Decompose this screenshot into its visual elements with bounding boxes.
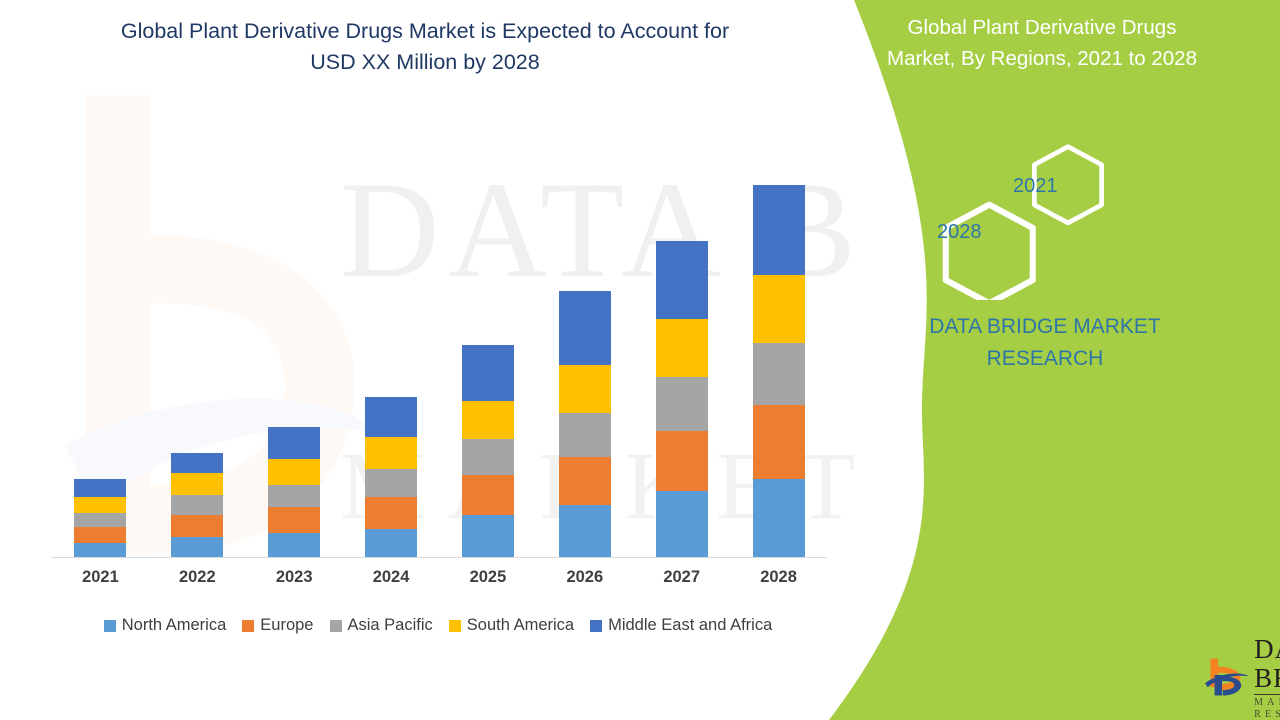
x-axis-tick-label: 2027 xyxy=(642,568,722,587)
legend-swatch-icon xyxy=(104,620,116,632)
brand-panel: Global Plant Derivative Drugs Market, By… xyxy=(800,0,1280,720)
legend-label: South America xyxy=(467,616,574,635)
chart-panel: DATA BRIDGE MARKET RESEARCH Global Plant… xyxy=(0,0,860,720)
bar-segment[interactable] xyxy=(365,437,417,469)
bar-segment[interactable] xyxy=(559,413,611,457)
brand-title-line2: Market, By Regions, 2021 to 2028 xyxy=(822,43,1262,74)
bar-segment[interactable] xyxy=(171,495,223,515)
bar-segment[interactable] xyxy=(74,479,126,497)
bar-segment[interactable] xyxy=(462,439,514,475)
legend-swatch-icon xyxy=(449,620,461,632)
bar-segment[interactable] xyxy=(656,241,708,319)
brand-name-line1: DATA BRIDGE MARKET xyxy=(830,311,1260,343)
logo-wordmark: DATA BRIDGE MARKET RESEARCH xyxy=(1254,633,1280,720)
bar-segment[interactable] xyxy=(365,397,417,437)
x-axis-tick-label: 2022 xyxy=(157,568,237,587)
bar-segment[interactable] xyxy=(268,485,320,507)
bar-segment[interactable] xyxy=(753,479,805,557)
databridge-mark-icon xyxy=(1205,646,1250,708)
bar-segment[interactable] xyxy=(753,405,805,479)
bar-segment[interactable] xyxy=(462,475,514,515)
bar-segment[interactable] xyxy=(74,497,126,513)
brand-panel-title: Global Plant Derivative Drugs Market, By… xyxy=(822,12,1262,74)
legend-item[interactable]: South America xyxy=(449,616,574,635)
bar-segment[interactable] xyxy=(753,275,805,343)
brand-name-line2: RESEARCH xyxy=(830,343,1260,375)
legend-item[interactable]: Middle East and Africa xyxy=(590,616,772,635)
x-axis-tick-label: 2024 xyxy=(351,568,431,587)
bar-segment[interactable] xyxy=(656,491,708,557)
bar-segment[interactable] xyxy=(74,527,126,543)
bar-segment[interactable] xyxy=(268,533,320,557)
bar-segment[interactable] xyxy=(462,345,514,401)
bar-segment[interactable] xyxy=(171,537,223,557)
chart-title: Global Plant Derivative Drugs Market is … xyxy=(40,16,810,78)
bar-segment[interactable] xyxy=(365,497,417,529)
x-axis-tick-label: 2025 xyxy=(448,568,528,587)
stacked-bar[interactable] xyxy=(656,241,708,557)
bar-segment[interactable] xyxy=(656,319,708,377)
logo-divider xyxy=(1254,694,1280,695)
bar-segment[interactable] xyxy=(268,427,320,459)
stacked-bar[interactable] xyxy=(559,291,611,557)
bar-segment[interactable] xyxy=(753,185,805,275)
legend-label: Middle East and Africa xyxy=(608,616,772,635)
legend-label: North America xyxy=(122,616,227,635)
bar-segment[interactable] xyxy=(559,291,611,365)
stacked-bar[interactable] xyxy=(462,345,514,557)
bar-segment[interactable] xyxy=(365,469,417,497)
bar-segment[interactable] xyxy=(559,457,611,505)
brand-title-line1: Global Plant Derivative Drugs xyxy=(822,12,1262,43)
legend-item[interactable]: North America xyxy=(104,616,227,635)
hexagon-label-back: 2028 xyxy=(937,221,982,244)
x-axis-line xyxy=(52,557,827,558)
stacked-bar[interactable] xyxy=(74,479,126,557)
bar-segment[interactable] xyxy=(462,515,514,557)
bar-segment[interactable] xyxy=(365,529,417,557)
hexagon-label-front: 2021 xyxy=(1013,175,1058,198)
bar-segment[interactable] xyxy=(171,473,223,495)
bar-segment[interactable] xyxy=(74,513,126,527)
bar-segment[interactable] xyxy=(753,343,805,405)
stacked-bar[interactable] xyxy=(365,397,417,557)
bar-segment[interactable] xyxy=(656,431,708,491)
legend-swatch-icon xyxy=(590,620,602,632)
logo-main-text: DATA BRIDGE xyxy=(1254,635,1280,693)
company-logo: DATA BRIDGE MARKET RESEARCH xyxy=(1205,633,1280,720)
bar-segment[interactable] xyxy=(74,543,126,557)
plot-area xyxy=(52,95,827,557)
bar-segment[interactable] xyxy=(268,459,320,485)
legend-label: Europe xyxy=(260,616,313,635)
stacked-bar[interactable] xyxy=(268,427,320,557)
legend-swatch-icon xyxy=(330,620,342,632)
bar-segment[interactable] xyxy=(559,365,611,413)
bar-segment[interactable] xyxy=(462,401,514,439)
bar-segment[interactable] xyxy=(171,453,223,473)
brand-name: DATA BRIDGE MARKET RESEARCH xyxy=(830,311,1260,375)
x-axis-tick-label: 2021 xyxy=(60,568,140,587)
stacked-bar[interactable] xyxy=(753,185,805,557)
legend-item[interactable]: Europe xyxy=(242,616,313,635)
infographic-slide: DATA BRIDGE MARKET RESEARCH Global Plant… xyxy=(0,0,1280,720)
chart-title-line1: Global Plant Derivative Drugs Market is … xyxy=(40,16,810,47)
logo-sub-text: MARKET RESEARCH xyxy=(1254,697,1280,720)
bar-segment[interactable] xyxy=(656,377,708,431)
legend-item[interactable]: Asia Pacific xyxy=(330,616,433,635)
chart-legend: North AmericaEuropeAsia PacificSouth Ame… xyxy=(48,616,828,635)
hexagon-pair-graphic xyxy=(900,140,1160,300)
x-axis-tick-label: 2023 xyxy=(254,568,334,587)
bar-segment[interactable] xyxy=(559,505,611,557)
bar-segment[interactable] xyxy=(268,507,320,533)
x-axis-tick-label: 2026 xyxy=(545,568,625,587)
legend-label: Asia Pacific xyxy=(348,616,433,635)
legend-swatch-icon xyxy=(242,620,254,632)
chart-title-line2: USD XX Million by 2028 xyxy=(40,47,810,78)
stacked-bar[interactable] xyxy=(171,453,223,557)
bar-segment[interactable] xyxy=(171,515,223,537)
